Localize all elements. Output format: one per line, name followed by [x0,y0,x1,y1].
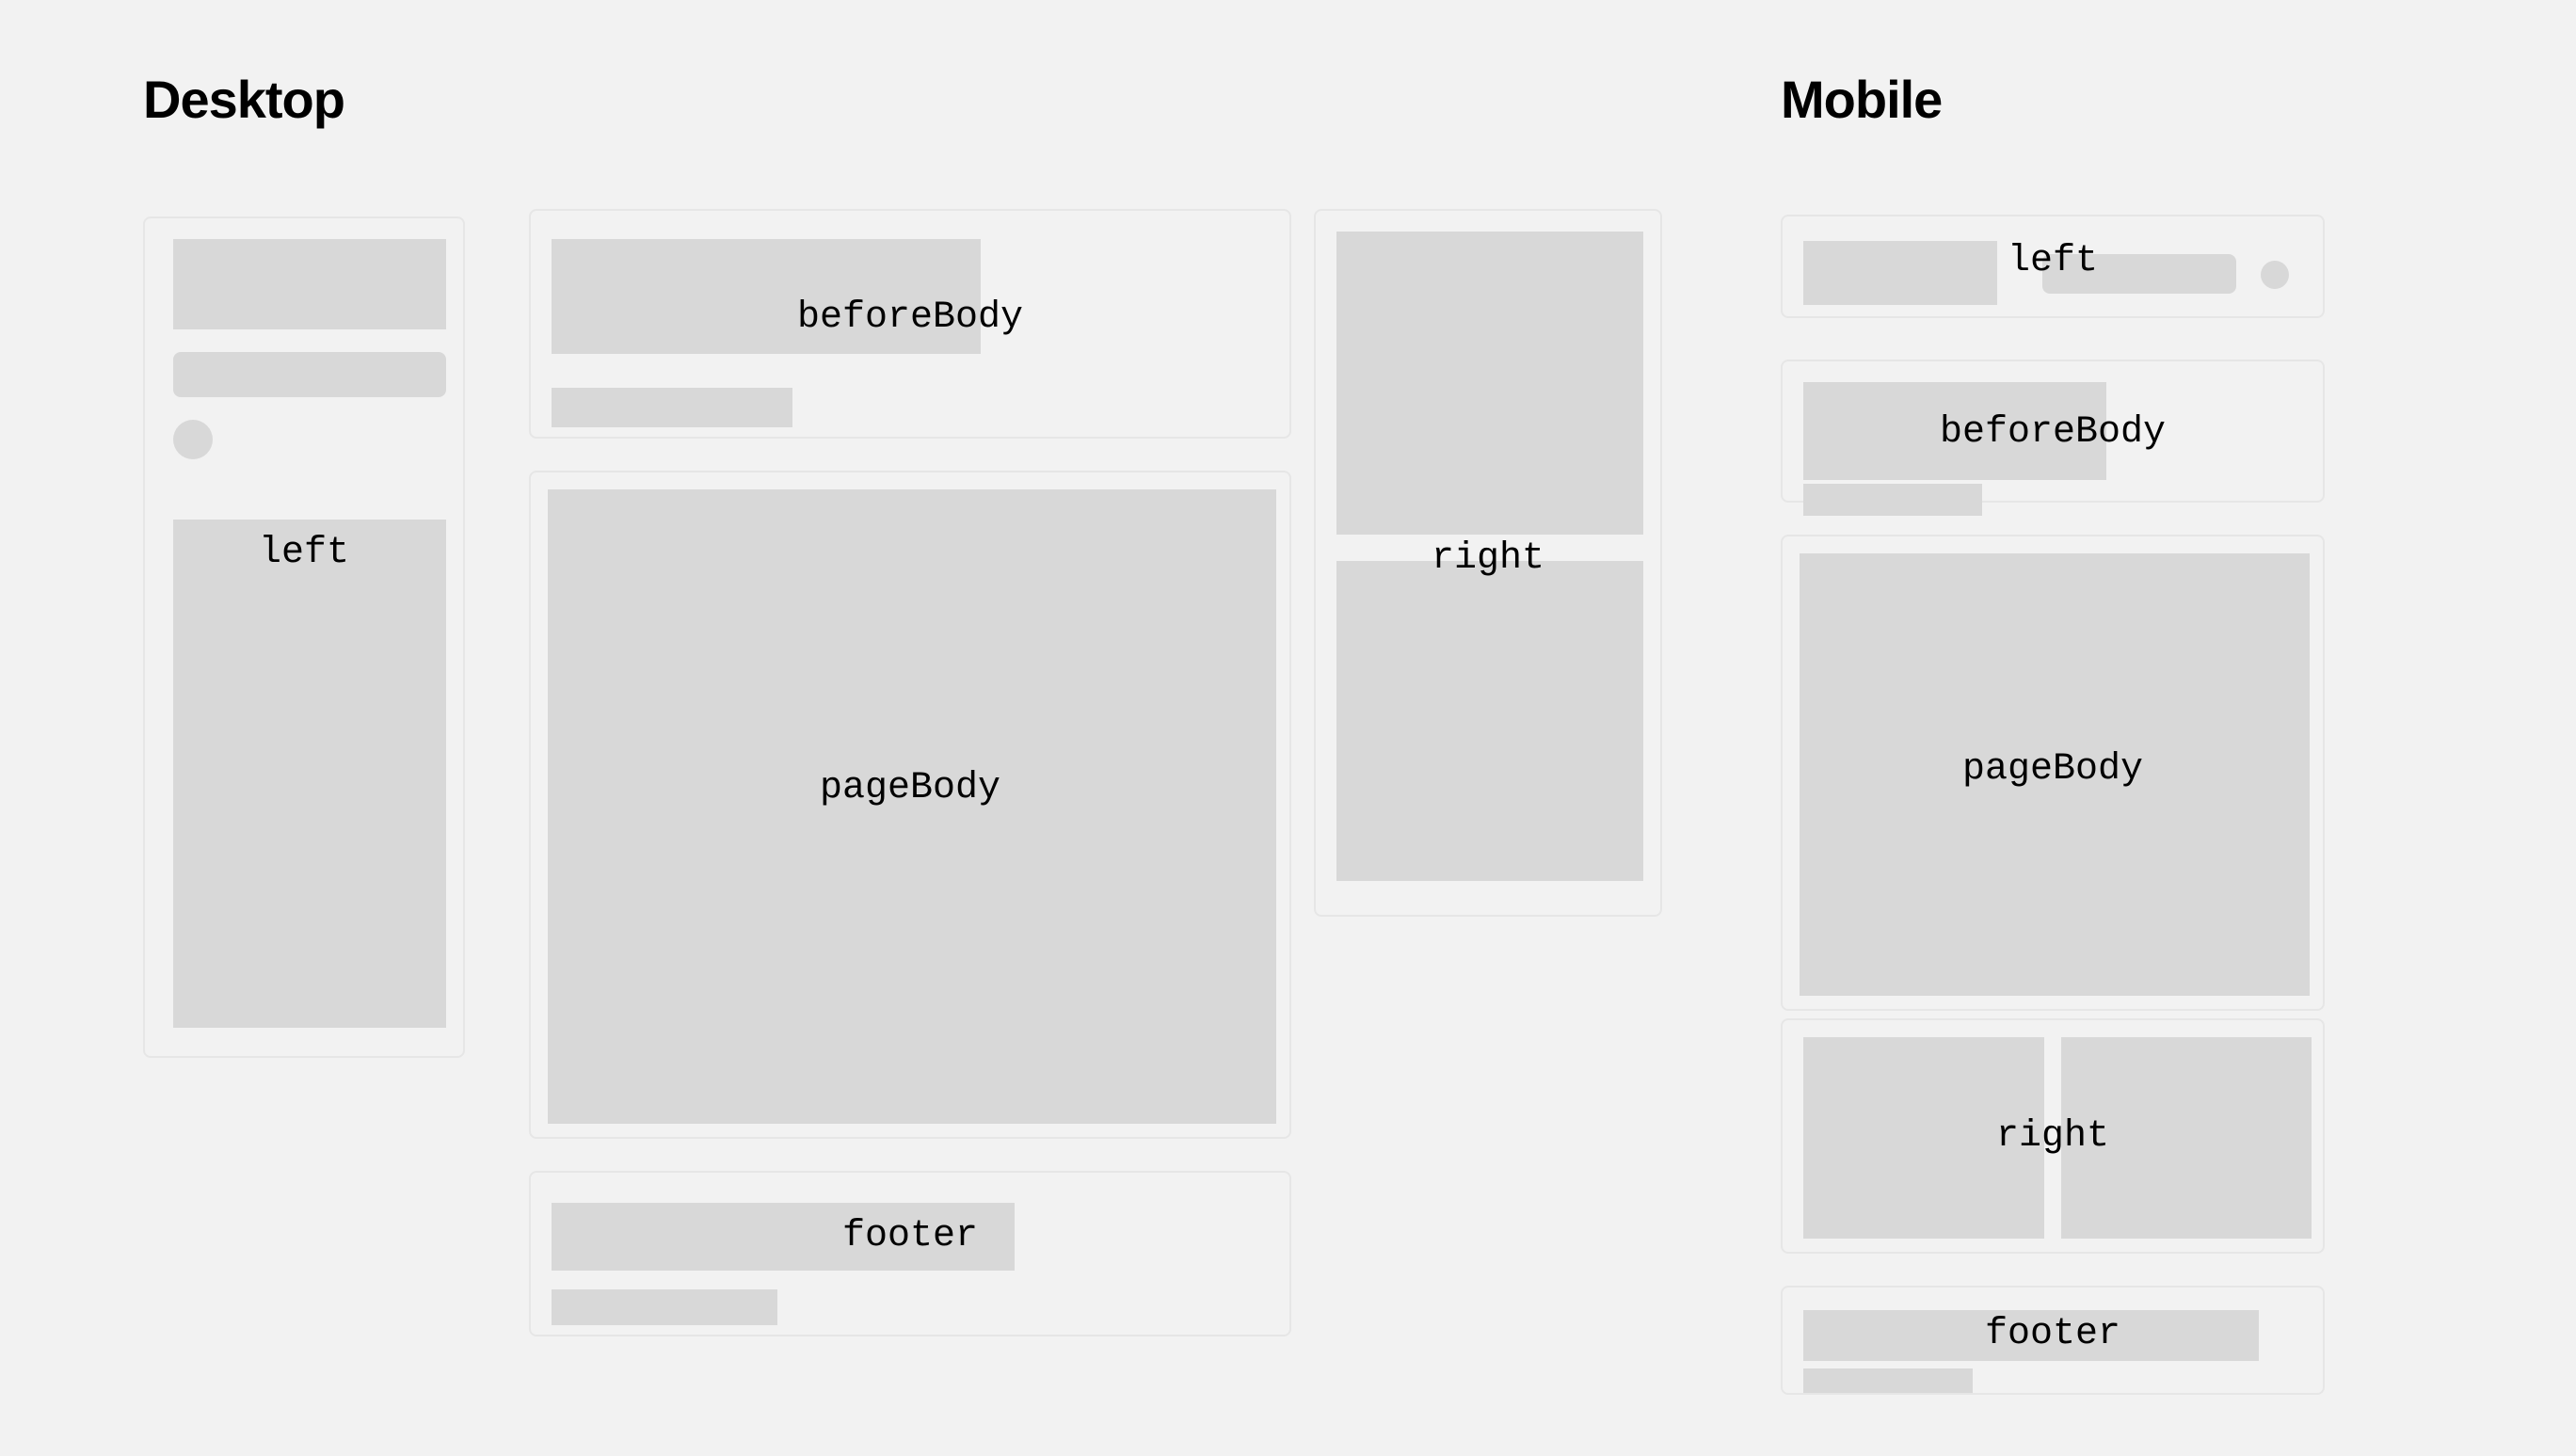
mobile-right-block-end [2061,1037,2312,1239]
mobile-left-sidebar-block-header [1803,241,1997,305]
mobile-panel-right[interactable] [1781,1018,2325,1254]
layout-preview-canvas: Desktop left beforeBody pageBody footer … [0,0,2576,1456]
section-heading-mobile: Mobile [1781,73,1942,126]
mobile-before-body-block-primary [1803,382,2106,480]
desktop-left-sidebar-block-body [173,520,446,1028]
mobile-right-block-start [1803,1037,2044,1239]
mobile-left-sidebar-avatar [2261,261,2289,289]
mobile-panel-page-body[interactable] [1781,535,2325,1011]
mobile-footer-block-primary [1803,1310,2259,1361]
desktop-before-body-block-primary [552,239,981,354]
desktop-panel-right[interactable] [1314,209,1662,917]
mobile-panel-left[interactable] [1781,215,2325,318]
desktop-page-body-block [548,489,1276,1124]
desktop-left-sidebar-block-header [173,239,446,329]
mobile-page-body-block [1800,553,2310,996]
desktop-panel-left[interactable] [143,216,465,1058]
desktop-before-body-block-secondary [552,388,792,427]
desktop-panel-page-body[interactable] [529,471,1291,1139]
desktop-panel-footer[interactable] [529,1171,1291,1336]
mobile-before-body-block-secondary [1803,484,1982,516]
desktop-left-sidebar-block-subheader [173,352,446,397]
desktop-footer-block-primary [552,1203,1015,1271]
desktop-right-block-bottom [1336,561,1643,881]
mobile-footer-block-secondary [1803,1368,1973,1393]
mobile-panel-footer[interactable] [1781,1286,2325,1395]
desktop-panel-before-body[interactable] [529,209,1291,439]
mobile-panel-before-body[interactable] [1781,360,2325,503]
desktop-left-sidebar-avatar [173,420,213,459]
section-heading-desktop: Desktop [143,73,344,126]
mobile-left-sidebar-block-subheader [2042,254,2236,294]
desktop-footer-block-secondary [552,1289,777,1325]
desktop-right-block-top [1336,232,1643,535]
